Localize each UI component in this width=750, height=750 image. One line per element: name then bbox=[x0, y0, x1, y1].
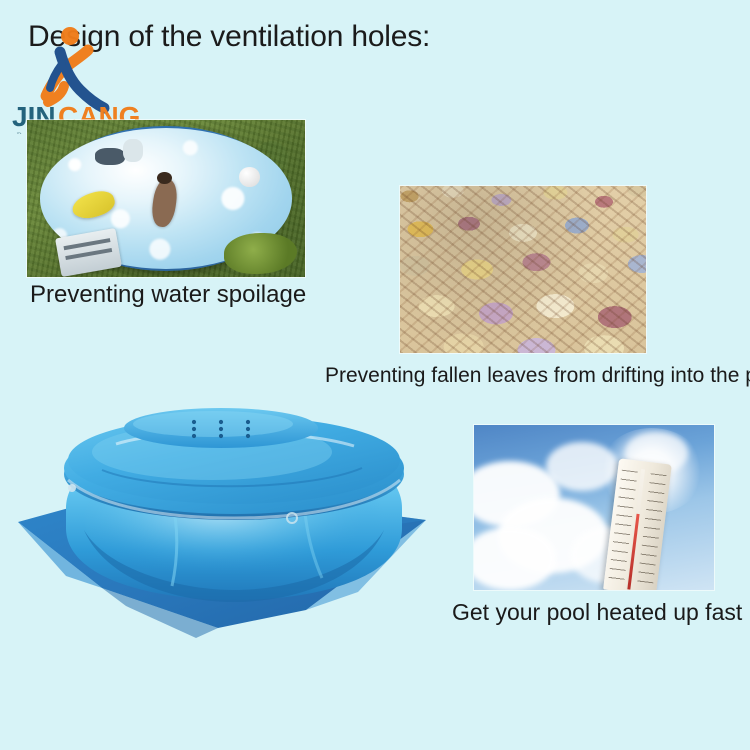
photo-fallen-leaves bbox=[400, 186, 646, 353]
logo-figure-head-icon bbox=[61, 27, 79, 45]
beach-ball bbox=[239, 167, 259, 187]
photo-sky-thermometer bbox=[474, 425, 714, 590]
swimmer-child-1 bbox=[150, 177, 179, 228]
jincang-watermark-logo: JIN CANG Professional Pool Manufacturer bbox=[8, 24, 158, 134]
swimmer-child-3 bbox=[123, 139, 143, 162]
cover-grommet bbox=[68, 484, 76, 492]
yellow-float bbox=[70, 187, 118, 223]
photo-pool-with-children bbox=[27, 120, 305, 277]
autumn-leaves-texture bbox=[400, 186, 646, 353]
caption-fallen-leaves: Preventing fallen leaves from drifting i… bbox=[325, 364, 750, 388]
infographic-canvas: Design of the ventilation holes: JIN CAN… bbox=[0, 0, 750, 750]
ventilation-hole-panel bbox=[124, 408, 318, 448]
caption-pool-heating: Get your pool heated up fast bbox=[452, 599, 742, 626]
caption-water-spoilage: Preventing water spoilage bbox=[30, 281, 306, 309]
product-pool-with-vented-cover bbox=[6, 400, 456, 645]
swimmer-child-2 bbox=[95, 148, 125, 165]
